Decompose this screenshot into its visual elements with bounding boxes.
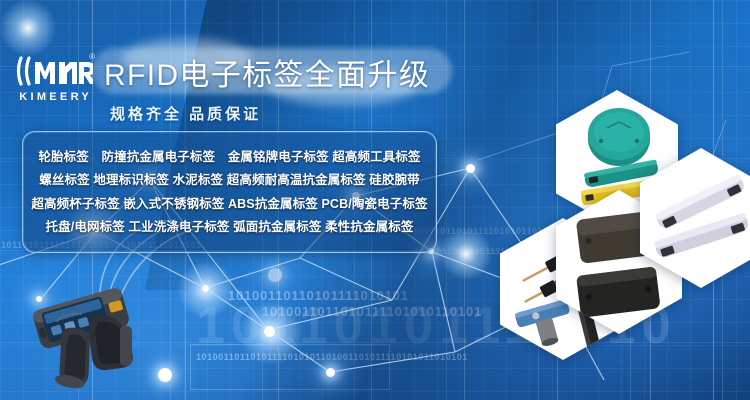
network-glow: [0, 0, 56, 56]
brand-name: KIMEERY: [12, 91, 96, 103]
binary-small-text-2: 1010011011010111101010110100110101111010…: [196, 352, 468, 362]
handheld-rfid-reader: [28, 278, 158, 390]
white-flag-tag-products: [647, 159, 750, 277]
binary-mid-text-2: 1010011011010111101010110101: [262, 304, 482, 319]
hex-white-flag-tags: [640, 148, 750, 288]
kmr-logo-icon: [15, 54, 93, 88]
rfid-banner: 10110101111010 10100110110101111010101 1…: [0, 0, 750, 400]
brand-logo-mark: ®: [12, 52, 96, 90]
product-list-row: 轮胎标签 防撞抗金属电子标签 金属铭牌电子标签 超高频工具标签: [23, 145, 436, 169]
network-node: [466, 164, 475, 173]
binary-mid-text-1: 10100110110101111010101: [228, 288, 409, 303]
product-list-panel: 轮胎标签 防撞抗金属电子标签 金属铭牌电子标签 超高频工具标签 螺丝标签 地理标…: [22, 131, 437, 253]
network-node: [158, 368, 172, 382]
network-node: [202, 285, 209, 292]
network-node: [268, 268, 282, 282]
network-node: [264, 326, 275, 337]
network-glow: [440, 228, 492, 280]
product-list-row: 螺丝标签 地理标识标签 水泥标签 超高频耐高温抗金属标签 硅胶腕带: [23, 169, 436, 193]
brand-logo: ® KIMEERY: [12, 52, 96, 103]
binary-frame-box: [190, 344, 390, 390]
product-list-row: 托盘/电网标签 工业洗涤电子标签 弧面抗金属标签 柔性抗金属标签: [23, 216, 436, 240]
page-title: RFID电子标签全面升级: [104, 50, 454, 94]
page-subtitle: 规格齐全 品质保证: [110, 103, 261, 124]
product-list-row: 超高频杯子标签 嵌入式不锈钢标签 ABS抗金属标签 PCB/陶瓷电子标签: [23, 192, 436, 216]
network-node: [326, 368, 335, 377]
